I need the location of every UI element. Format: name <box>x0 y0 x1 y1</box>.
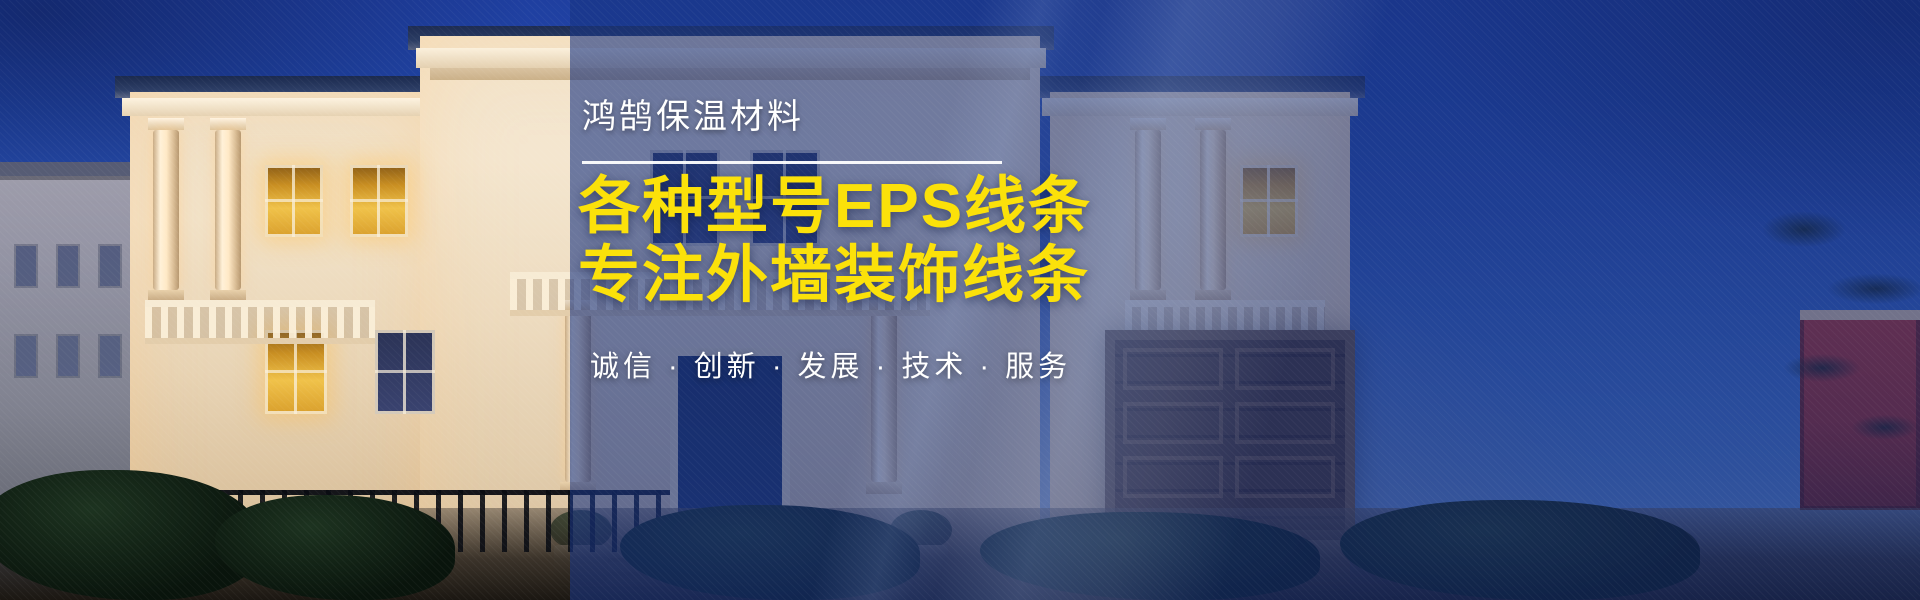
balustrade <box>145 300 375 344</box>
headline-line-1: 各种型号EPS线条 <box>560 174 1260 240</box>
brand-name: 鸿鹄保温材料 <box>560 96 1260 139</box>
column <box>215 130 241 290</box>
headline-line-2: 专注外墙装饰线条 <box>560 243 1260 309</box>
window <box>265 165 323 237</box>
tagline: 诚信 · 创新 · 发展 · 技术 · 服务 <box>560 343 1260 385</box>
window <box>350 165 408 237</box>
divider-rule <box>582 161 1002 164</box>
column <box>153 130 179 290</box>
left-wing-cornice <box>122 98 438 116</box>
banner-text-block: 鸿鹄保温材料 各种型号EPS线条 专注外墙装饰线条 诚信 · 创新 · 发展 ·… <box>560 96 1260 385</box>
hero-banner: 鸿鹄保温材料 各种型号EPS线条 专注外墙装饰线条 诚信 · 创新 · 发展 ·… <box>0 0 1920 600</box>
window <box>375 330 435 414</box>
